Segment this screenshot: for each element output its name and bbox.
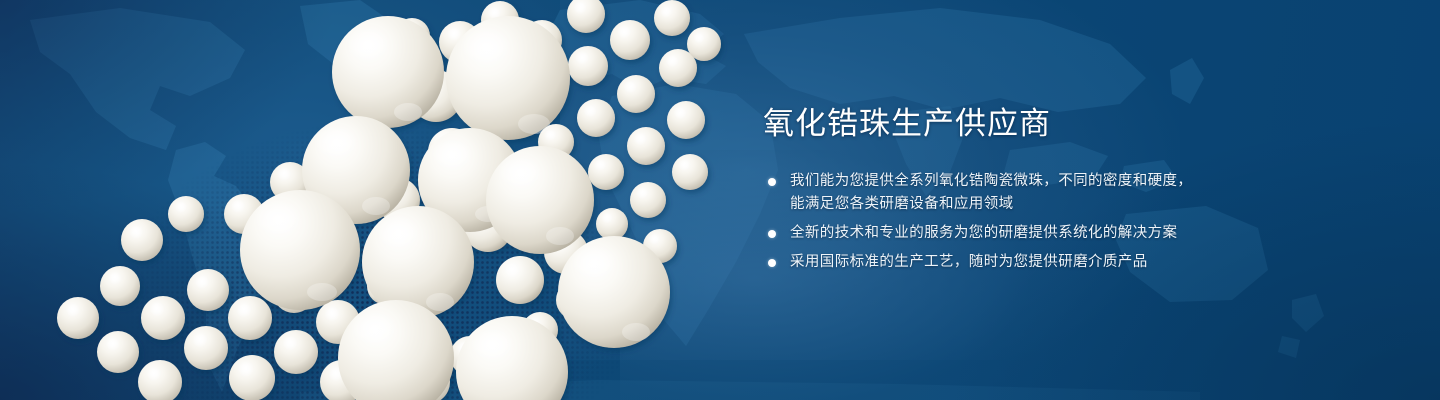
feature-list-item: 采用国际标准的生产工艺，随时为您提供研磨介质产品: [763, 251, 1363, 274]
hero-banner: 氧化锆珠生产供应商 我们能为您提供全系列氧化锆陶瓷微珠，不同的密度和硬度， 能满…: [0, 0, 1440, 400]
dot-bullet-icon: [768, 230, 776, 238]
feature-list-item: 全新的技术和专业的服务为您的研磨提供系统化的解决方案: [763, 222, 1363, 245]
feature-text-line: 我们能为您提供全系列氧化锆陶瓷微珠，不同的密度和硬度，: [790, 170, 1363, 193]
dot-bullet-icon: [768, 259, 776, 267]
feature-text-line: 采用国际标准的生产工艺，随时为您提供研磨介质产品: [790, 251, 1363, 274]
feature-list-item: 我们能为您提供全系列氧化锆陶瓷微珠，不同的密度和硬度， 能满足您各类研磨设备和应…: [763, 170, 1363, 216]
banner-text-block: 氧化锆珠生产供应商 我们能为您提供全系列氧化锆陶瓷微珠，不同的密度和硬度， 能满…: [763, 104, 1363, 274]
banner-headline: 氧化锆珠生产供应商: [763, 104, 1363, 144]
banner-feature-list: 我们能为您提供全系列氧化锆陶瓷微珠，不同的密度和硬度， 能满足您各类研磨设备和应…: [763, 170, 1363, 274]
feature-text-line: 全新的技术和专业的服务为您的研磨提供系统化的解决方案: [790, 222, 1363, 245]
dot-bullet-icon: [768, 178, 776, 186]
feature-text-line: 能满足您各类研磨设备和应用领域: [790, 193, 1363, 216]
